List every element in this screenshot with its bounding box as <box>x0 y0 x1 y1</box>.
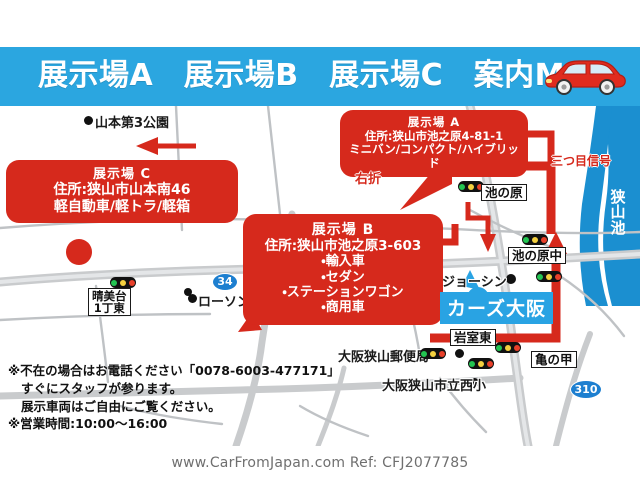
traffic-signal <box>536 271 562 282</box>
callout-a-title: 展示場 A <box>344 116 524 130</box>
traffic-signal <box>110 277 136 288</box>
label-harumidai-line2: 1丁東 <box>94 301 125 315</box>
label-ikenohara: 池の原 <box>481 184 527 201</box>
callout-b-address: 住所:狭山市池之原3-603 <box>247 239 439 255</box>
notes-block: ※不在の場合はお電話ください「0078-6003-477171」 すぐにスタッフ… <box>8 362 340 433</box>
label-third-signal: 三つ目信号 <box>551 152 611 169</box>
poi-dot-joshin <box>506 274 516 284</box>
callout-b-item: ・輸入車 <box>247 254 439 269</box>
callout-b-item: ・セダン <box>247 270 439 285</box>
callout-a-address: 住所:狭山市池之原4-81-1 <box>344 130 524 144</box>
label-yamamoto-park: 山本第3公園 <box>95 112 169 131</box>
watermark-text: www.CarFromJapan.com Ref: CFJ2077785 <box>0 455 640 471</box>
note-free-view: 展示車両はご自由にご覧ください。 <box>8 398 340 416</box>
callout-showroom-c: 展示場 C 住所:狭山市山本南46 軽自動車/軽トラ/軽箱 <box>6 160 238 223</box>
callout-b-item: ・ステーションワゴン <box>247 285 439 300</box>
note-hours: ※営業時間:10:00～16:00 <box>8 415 340 433</box>
label-school: 大阪狭山市立西小 <box>382 375 486 394</box>
label-sayama-lake: 狭山池 <box>609 190 627 236</box>
map-page: 展示場A 展示場B 展示場C 案内MAP <box>0 0 640 480</box>
label-turn-right: 右折 <box>355 168 381 187</box>
poi-dot-park <box>84 116 93 125</box>
label-harumidai: 晴美台 1丁東 <box>88 288 131 316</box>
callout-b-title: 展示場 B <box>247 222 439 239</box>
label-kamenoko: 亀の甲 <box>531 351 577 368</box>
traffic-signal <box>468 358 494 369</box>
callout-c-types: 軽自動車/軽トラ/軽箱 <box>10 199 234 216</box>
label-cars-osaka: カーズ大阪 <box>440 292 553 324</box>
callout-c-address: 住所:狭山市山本南46 <box>10 182 234 199</box>
traffic-signal <box>495 342 521 353</box>
callout-a-types: ミニバン/コンパクト/ハイブリッド <box>344 143 524 170</box>
label-joshin: ジョーシン <box>442 271 507 290</box>
callout-showroom-b: 展示場 B 住所:狭山市池之原3-603 ・輸入車 ・セダン ・ステーションワゴ… <box>243 214 443 325</box>
note-phone: ※不在の場合はお電話ください「0078-6003-477171」 <box>8 362 340 380</box>
route-shield-34: 34 <box>212 273 238 291</box>
callout-b-item: ・商用車 <box>247 300 439 315</box>
label-post-office: 大阪狭山郵便局 <box>338 346 429 365</box>
note-staff: すぐにスタッフが参ります。 <box>8 380 340 398</box>
poi-dot-harumidai <box>184 288 192 296</box>
label-ikenohara-naka: 池の原中 <box>508 247 566 264</box>
traffic-signal <box>522 234 548 245</box>
traffic-signal <box>420 348 446 359</box>
callout-c-title: 展示場 C <box>10 167 234 182</box>
red-car-icon <box>541 55 629 99</box>
route-shield-310: 310 <box>570 380 602 399</box>
page-title: 展示場A 展示場B 展示場C 案内MAP <box>38 50 611 94</box>
label-iwamuro-higashi: 岩室東 <box>450 329 496 346</box>
poi-dot-post-office <box>455 349 464 358</box>
